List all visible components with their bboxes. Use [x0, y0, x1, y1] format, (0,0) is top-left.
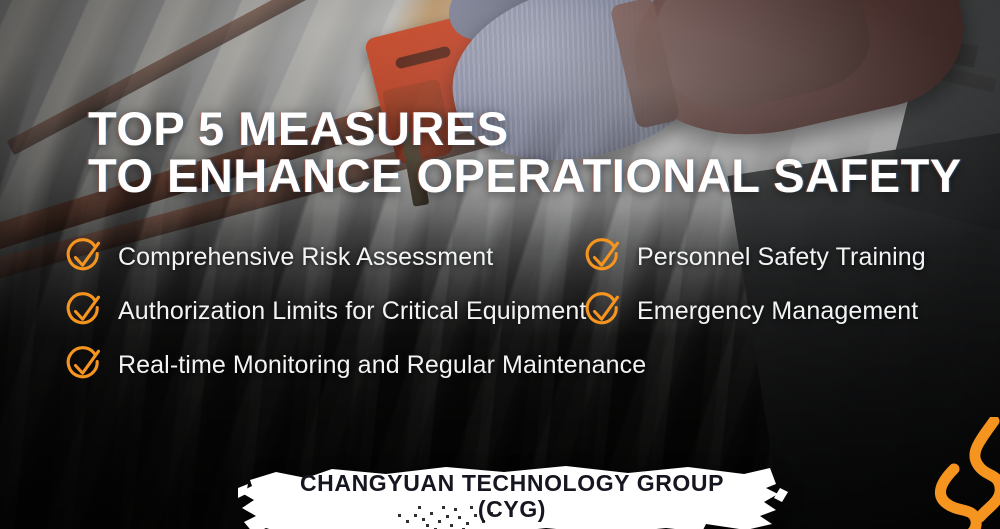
list-item: Real-time Monitoring and Regular Mainten…	[64, 345, 646, 385]
banner-line-2: (CYG)	[236, 496, 788, 522]
safety-infographic-poster: TOP 5 MEASURES TO ENHANCE OPERATIONAL SA…	[0, 0, 1000, 529]
list-item: Authorization Limits for Critical Equipm…	[64, 291, 586, 331]
check-circle-icon	[64, 237, 104, 277]
list-item: Personnel Safety Training	[583, 237, 926, 277]
check-circle-icon	[64, 345, 104, 385]
list-item: Comprehensive Risk Assessment	[64, 237, 493, 277]
banner-text: CHANGYUAN TECHNOLOGY GROUP (CYG)	[236, 470, 788, 522]
orange-zigzag-icon	[920, 417, 1000, 529]
check-circle-icon	[583, 291, 623, 331]
headline-line-1: TOP 5 MEASURES	[88, 102, 509, 155]
list-item-label: Real-time Monitoring and Regular Mainten…	[118, 350, 646, 380]
page-title: TOP 5 MEASURES TO ENHANCE OPERATIONAL SA…	[88, 105, 962, 199]
list-item-label: Comprehensive Risk Assessment	[118, 242, 493, 272]
check-circle-icon	[64, 291, 104, 331]
check-circle-icon	[583, 237, 623, 277]
list-item-label: Authorization Limits for Critical Equipm…	[118, 296, 586, 326]
banner-line-1: CHANGYUAN TECHNOLOGY GROUP	[300, 470, 724, 496]
list-item-label: Personnel Safety Training	[637, 242, 926, 272]
list-item-label: Emergency Management	[637, 296, 918, 326]
headline-line-2: TO ENHANCE OPERATIONAL SAFETY	[88, 152, 962, 199]
company-name-banner: CHANGYUAN TECHNOLOGY GROUP (CYG)	[236, 458, 788, 529]
list-item: Emergency Management	[583, 291, 918, 331]
poster-content: TOP 5 MEASURES TO ENHANCE OPERATIONAL SA…	[0, 0, 1000, 529]
